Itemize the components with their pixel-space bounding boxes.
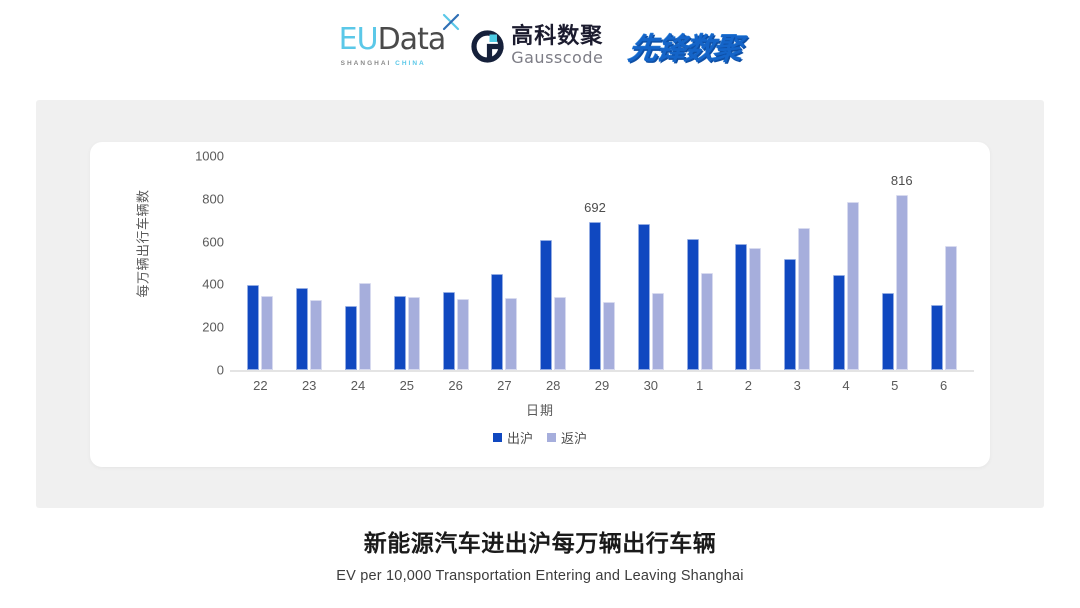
bar-series2[interactable] bbox=[603, 302, 615, 370]
legend-swatch-icon bbox=[547, 433, 556, 442]
bar-series1[interactable] bbox=[345, 306, 357, 370]
bar-group[interactable] bbox=[529, 156, 578, 370]
bar-value-label: 816 bbox=[891, 173, 913, 188]
bar-series2[interactable] bbox=[847, 202, 859, 370]
chart-card: 每万辆出行车辆数 02004006008001000 692816 222324… bbox=[90, 142, 990, 467]
gausscode-logo: 高科数聚 Gausscode bbox=[471, 26, 603, 66]
bar-series2[interactable] bbox=[310, 300, 322, 370]
x-axis-line bbox=[230, 370, 974, 372]
x-cross-icon bbox=[442, 13, 460, 31]
x-tick-label: 5 bbox=[891, 378, 898, 393]
evdata-tagline-city: SHANGHAI bbox=[341, 60, 392, 67]
x-tick-label: 28 bbox=[546, 378, 560, 393]
bar-series2[interactable] bbox=[554, 297, 566, 370]
x-tick-label: 25 bbox=[400, 378, 414, 393]
x-tick-label: 22 bbox=[253, 378, 267, 393]
bar-group[interactable] bbox=[919, 156, 968, 370]
evdata-ev-text: EU bbox=[339, 25, 378, 55]
bar-series2[interactable] bbox=[359, 283, 371, 370]
bar-series2[interactable] bbox=[408, 297, 420, 370]
bar-series2[interactable] bbox=[749, 248, 761, 370]
bar-series2[interactable] bbox=[457, 299, 469, 370]
x-tick-label: 6 bbox=[940, 378, 947, 393]
legend-label: 出沪 bbox=[507, 428, 533, 447]
bar-group[interactable] bbox=[822, 156, 871, 370]
caption-chinese: 新能源汽车进出沪每万辆出行车辆 bbox=[0, 524, 1080, 558]
x-axis-ticks: 222324252627282930123456 bbox=[236, 378, 968, 398]
bar-group[interactable] bbox=[382, 156, 431, 370]
y-tick-label: 600 bbox=[174, 234, 224, 249]
evdata-wordmark: EU Data bbox=[339, 25, 446, 55]
bar-series2[interactable] bbox=[261, 296, 273, 370]
bar-series2[interactable] bbox=[798, 228, 810, 370]
bar-with-label: 816 bbox=[896, 195, 908, 370]
bar-series2[interactable] bbox=[701, 273, 713, 370]
x-tick-label: 30 bbox=[644, 378, 658, 393]
bar-series1[interactable] bbox=[443, 292, 455, 370]
bar-series1[interactable] bbox=[589, 222, 601, 370]
bar-series1[interactable] bbox=[735, 244, 747, 370]
caption-english: EV per 10,000 Transportation Entering an… bbox=[0, 568, 1080, 584]
bar-group[interactable] bbox=[431, 156, 480, 370]
legend-label: 返沪 bbox=[561, 428, 587, 447]
x-tick-label: 1 bbox=[696, 378, 703, 393]
bar-group[interactable] bbox=[724, 156, 773, 370]
x-tick-label: 27 bbox=[497, 378, 511, 393]
evdata-tagline-country: CHINA bbox=[395, 60, 426, 67]
bar-group[interactable] bbox=[773, 156, 822, 370]
bar-series2[interactable] bbox=[652, 293, 664, 370]
bar-series2[interactable] bbox=[505, 298, 517, 370]
bar-series1[interactable] bbox=[540, 240, 552, 370]
bar-series1[interactable] bbox=[931, 305, 943, 370]
gausscode-en-text: Gausscode bbox=[511, 50, 603, 66]
bar-group[interactable] bbox=[675, 156, 724, 370]
x-tick-label: 23 bbox=[302, 378, 316, 393]
y-axis-title: 每万辆出行车辆数 bbox=[133, 184, 152, 304]
chart-legend: 出沪返沪 bbox=[90, 428, 990, 447]
bar-value-label: 692 bbox=[584, 200, 606, 215]
bar-series1[interactable] bbox=[296, 288, 308, 370]
bar-series2[interactable] bbox=[945, 246, 957, 370]
plot-area: 692816 bbox=[236, 156, 968, 370]
x-tick-label: 26 bbox=[448, 378, 462, 393]
bar-series1[interactable] bbox=[638, 224, 650, 370]
figure-caption: 新能源汽车进出沪每万辆出行车辆 EV per 10,000 Transporta… bbox=[0, 524, 1080, 584]
g-circle-icon bbox=[471, 30, 504, 63]
gausscode-cn-text: 高科数聚 bbox=[511, 26, 603, 48]
bar-series1[interactable] bbox=[882, 293, 894, 370]
bar-group[interactable]: 692 bbox=[578, 156, 627, 370]
y-tick-label: 400 bbox=[174, 277, 224, 292]
x-tick-label: 2 bbox=[745, 378, 752, 393]
legend-item[interactable]: 返沪 bbox=[547, 428, 587, 447]
y-tick-label: 0 bbox=[174, 363, 224, 378]
y-tick-label: 200 bbox=[174, 320, 224, 335]
xianfeng-logo: 先锋数聚 bbox=[626, 24, 744, 68]
legend-swatch-icon bbox=[493, 433, 502, 442]
y-tick-label: 1000 bbox=[174, 149, 224, 164]
evdata-data-text: Data bbox=[378, 25, 446, 55]
evdata-logo: EU Data SHANGHAI CHINA bbox=[339, 25, 446, 67]
legend-item[interactable]: 出沪 bbox=[493, 428, 533, 447]
bar-series1[interactable] bbox=[491, 274, 503, 370]
x-tick-label: 24 bbox=[351, 378, 365, 393]
bar-group[interactable] bbox=[480, 156, 529, 370]
gausscode-wordmark: 高科数聚 Gausscode bbox=[511, 26, 603, 66]
bar-series1[interactable] bbox=[247, 285, 259, 370]
bar-group[interactable] bbox=[285, 156, 334, 370]
y-tick-label: 800 bbox=[174, 191, 224, 206]
bar-group[interactable]: 816 bbox=[870, 156, 919, 370]
bar-with-label: 692 bbox=[589, 222, 601, 370]
logo-bar: EU Data SHANGHAI CHINA 高科数聚 Gausscode bbox=[0, 0, 1080, 92]
bar-group[interactable] bbox=[334, 156, 383, 370]
bar-series1[interactable] bbox=[833, 275, 845, 370]
x-tick-label: 3 bbox=[794, 378, 801, 393]
x-tick-label: 29 bbox=[595, 378, 609, 393]
x-axis-title: 日期 bbox=[90, 400, 990, 419]
bar-series2[interactable] bbox=[896, 195, 908, 370]
bar-series1[interactable] bbox=[394, 296, 406, 370]
bar-series1[interactable] bbox=[784, 259, 796, 370]
bar-group[interactable] bbox=[236, 156, 285, 370]
bar-series1[interactable] bbox=[687, 239, 699, 370]
chart-panel: 每万辆出行车辆数 02004006008001000 692816 222324… bbox=[36, 100, 1044, 508]
evdata-tagline: SHANGHAI CHINA bbox=[341, 60, 426, 67]
bar-group[interactable] bbox=[626, 156, 675, 370]
bar-chart: 每万辆出行车辆数 02004006008001000 692816 222324… bbox=[90, 142, 990, 467]
x-tick-label: 4 bbox=[842, 378, 849, 393]
